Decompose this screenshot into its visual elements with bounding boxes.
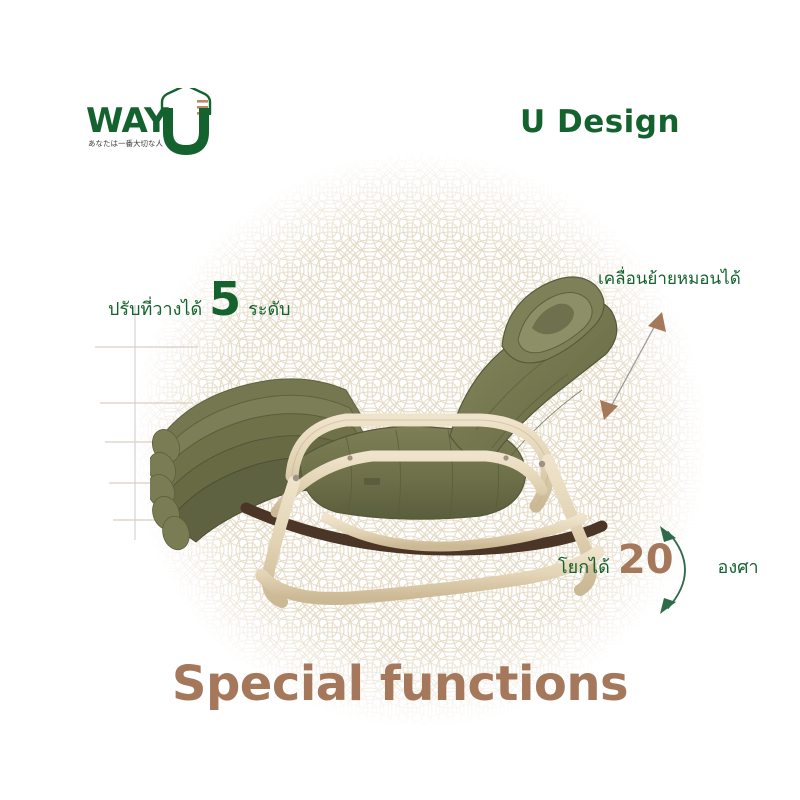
page-title: U Design [520, 104, 760, 140]
curved-double-arrow-icon [650, 520, 720, 620]
product-feature-poster: WAY あなたは一番大切な人 U Design ปรับที่วางได้ 5 [0, 0, 800, 800]
annotation-movable-pillow: เคลื่อนย้ายหมอนได้ [598, 265, 741, 292]
wayu-logo: WAY あなたは一番大切な人 [84, 88, 234, 166]
footer-heading: Special functions [0, 656, 800, 712]
double-headed-arrow-icon [592, 296, 682, 426]
annotation-degrees-suffix: องศา [718, 552, 759, 581]
annotation-degrees-prefix: โยกได้ [558, 552, 610, 581]
logo-wordmark-way: WAY [86, 101, 169, 141]
fabric-brand-tag [364, 478, 380, 485]
rocker-runner-front [262, 552, 598, 599]
logo-tagline-ja: あなたは一番大切な人 [88, 138, 163, 148]
